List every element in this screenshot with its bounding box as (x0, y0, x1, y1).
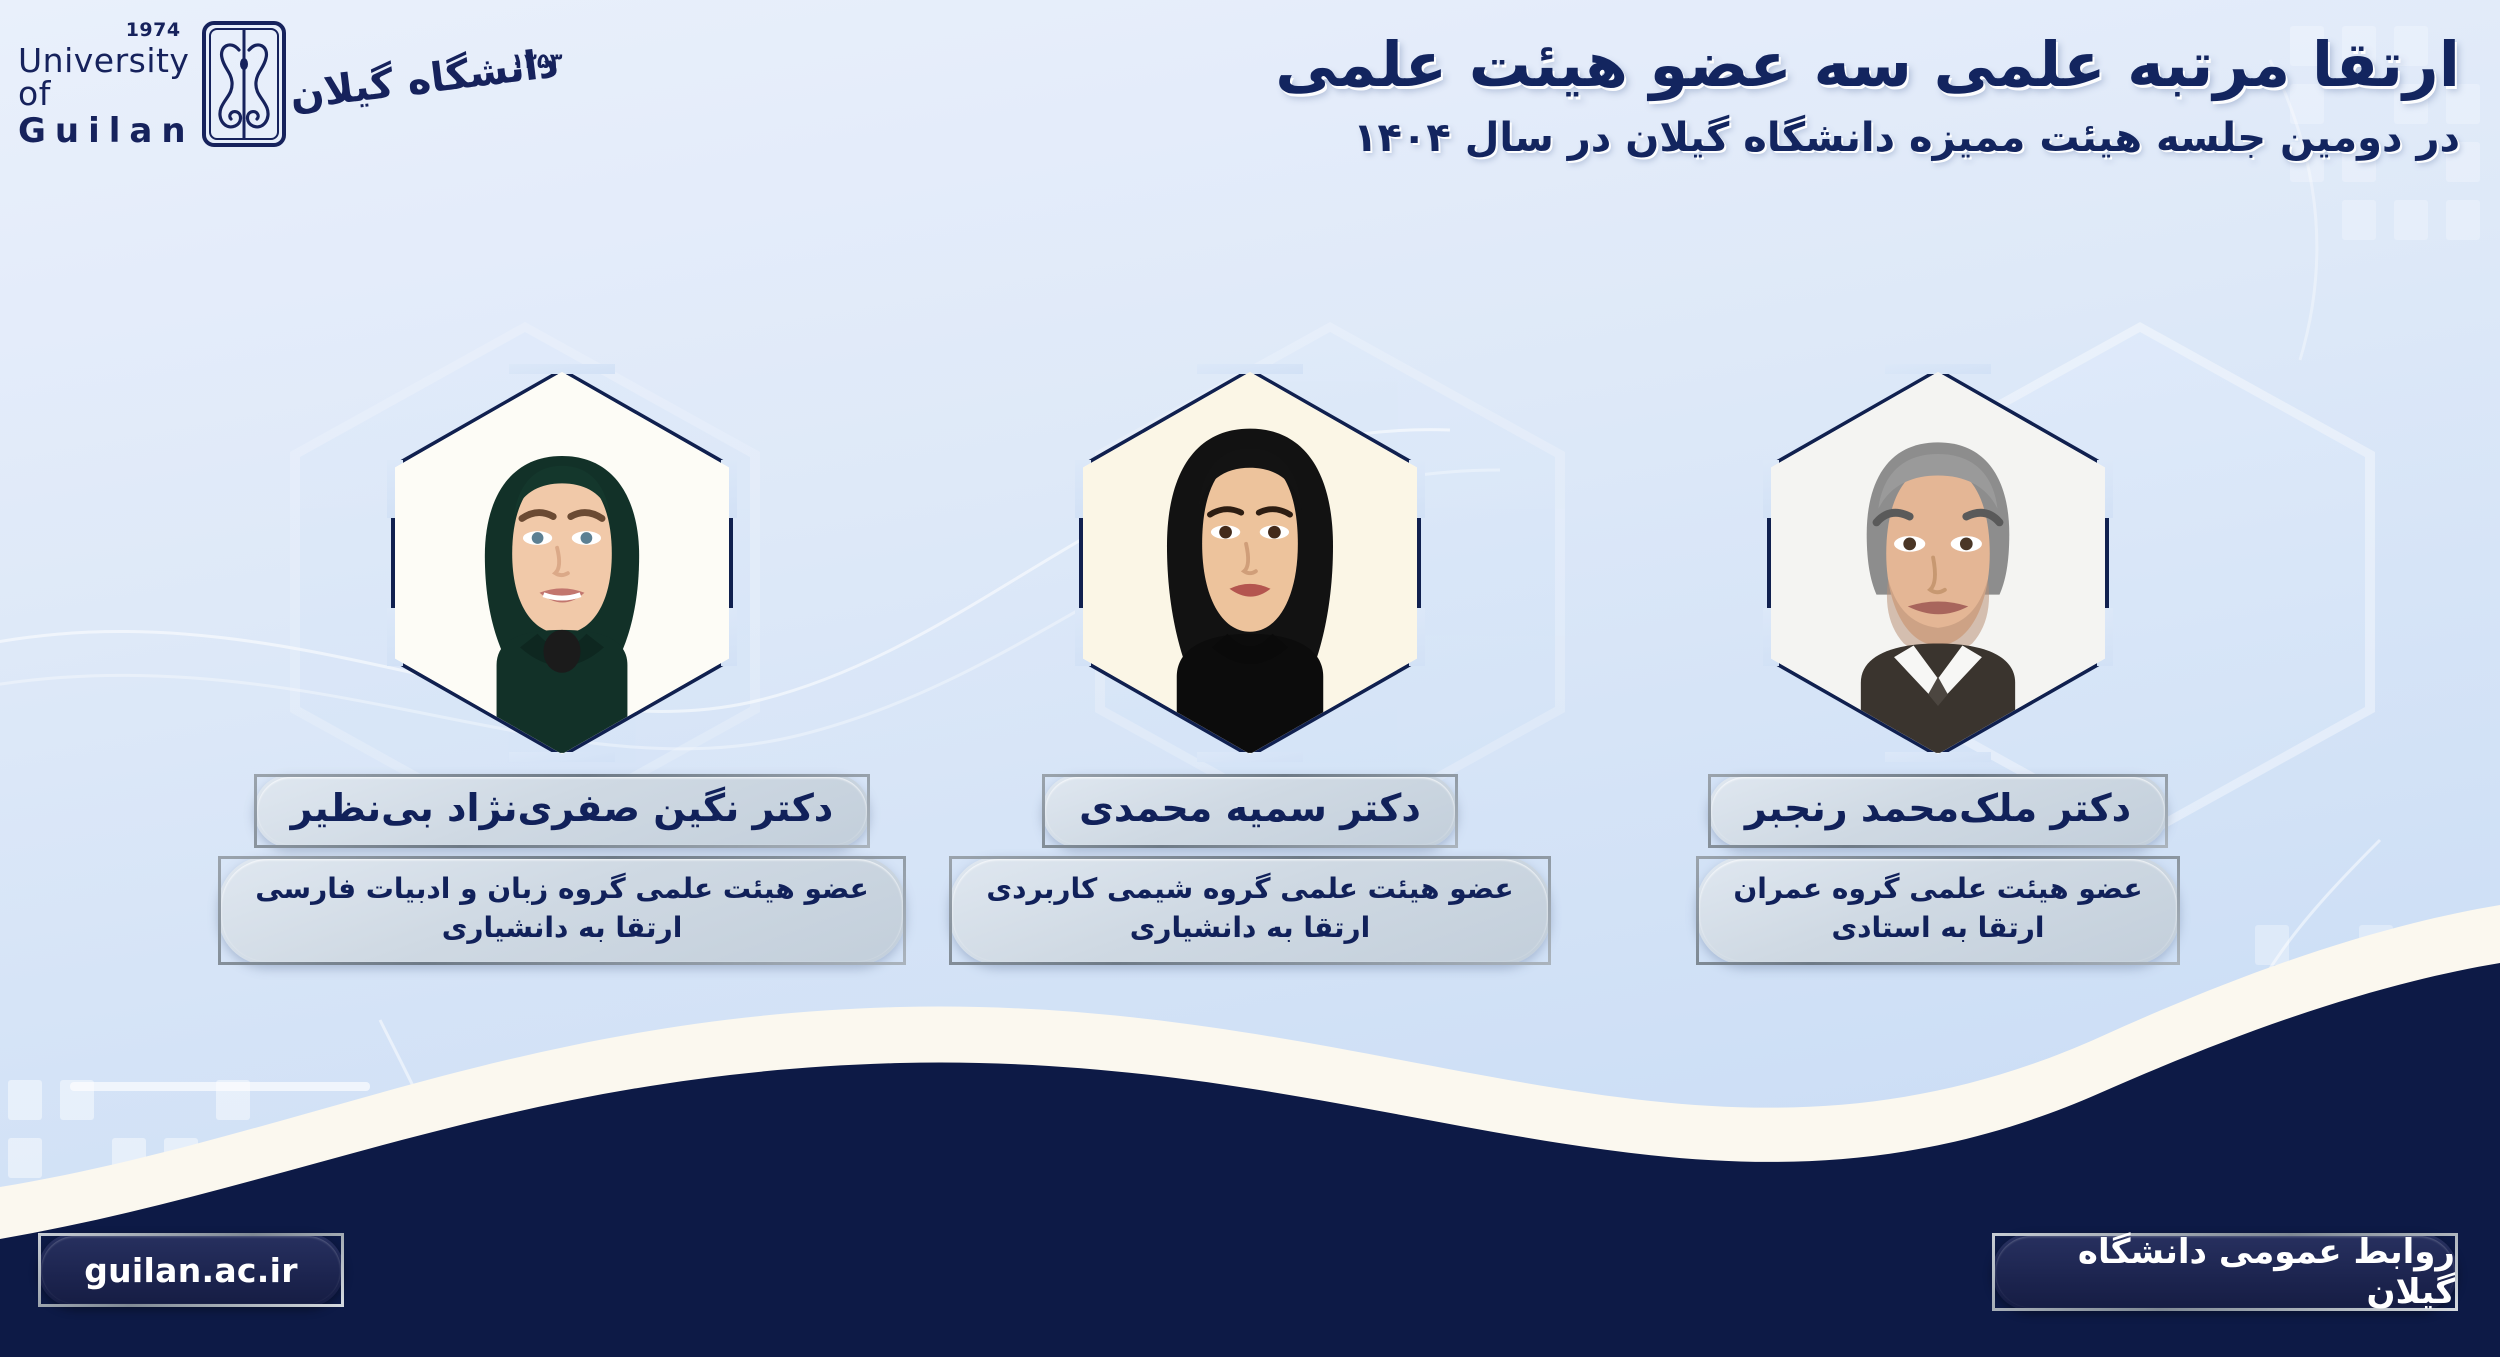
university-logo: 1974 University of Guilan ۱۳۵۳ دانشگاه گ… (18, 14, 488, 154)
logo-english-line1: University of (18, 44, 195, 110)
logo-english-text: 1974 University of Guilan (18, 21, 195, 148)
logo-english-line2: Guilan (18, 114, 195, 148)
public-relations-badge: روابط عمومی دانشگاه گیلان (1992, 1233, 2458, 1311)
person-card: دکتر سمیه محمدی عضو هیئت علمی گروه شیمی … (970, 368, 1530, 965)
page-subtitle: در دومین جلسه هیئت ممیزه دانشگاه گیلان د… (1275, 112, 2460, 164)
person-card: دکتر ملک‌محمد رنجبر عضو هیئت علمی گروه ع… (1658, 368, 2218, 965)
person-name-pill: دکتر نگین صفری‌نژاد بی‌نظیر (254, 774, 871, 848)
portrait-negin-safarinejad-binazir (395, 372, 729, 754)
people-row: دکتر نگین صفری‌نژاد بی‌نظیر عضو هیئت علم… (0, 368, 2500, 965)
person-name: دکتر نگین صفری‌نژاد بی‌نظیر (291, 786, 834, 830)
website-url: guilan.ac.ir (84, 1251, 298, 1290)
guilan-university-emblem-icon (201, 20, 287, 148)
logo-founding-year-en: 1974 (126, 21, 181, 40)
logo-persian-name: دانشگاه گیلان (287, 40, 560, 119)
portrait-malekmohammad-ranjbar (1771, 372, 2105, 754)
person-name: دکتر ملک‌محمد رنجبر (1745, 786, 2131, 830)
person-name-pill: دکتر سمیه محمدی (1042, 774, 1458, 848)
page-title: ارتقا مرتبه علمی سه عضو هیئت علمی (1275, 26, 2460, 104)
portrait-hexagon (1767, 368, 2109, 758)
portrait-hexagon (391, 368, 733, 758)
logo-persian-text: ۱۳۵۳ دانشگاه گیلان (293, 49, 563, 119)
public-relations-label: روابط عمومی دانشگاه گیلان (1995, 1232, 2455, 1312)
person-name-pill: دکتر ملک‌محمد رنجبر (1708, 774, 2168, 848)
poster-root: 1974 University of Guilan ۱۳۵۳ دانشگاه گ… (0, 0, 2500, 1357)
portrait-somayeh-mohammadi (1083, 372, 1417, 754)
title-block: ارتقا مرتبه علمی سه عضو هیئت علمی در دوم… (1275, 26, 2460, 164)
person-card: دکتر نگین صفری‌نژاد بی‌نظیر عضو هیئت علم… (282, 368, 842, 965)
person-name: دکتر سمیه محمدی (1079, 786, 1421, 830)
portrait-hexagon (1079, 368, 1421, 758)
website-badge[interactable]: guilan.ac.ir (38, 1233, 344, 1307)
